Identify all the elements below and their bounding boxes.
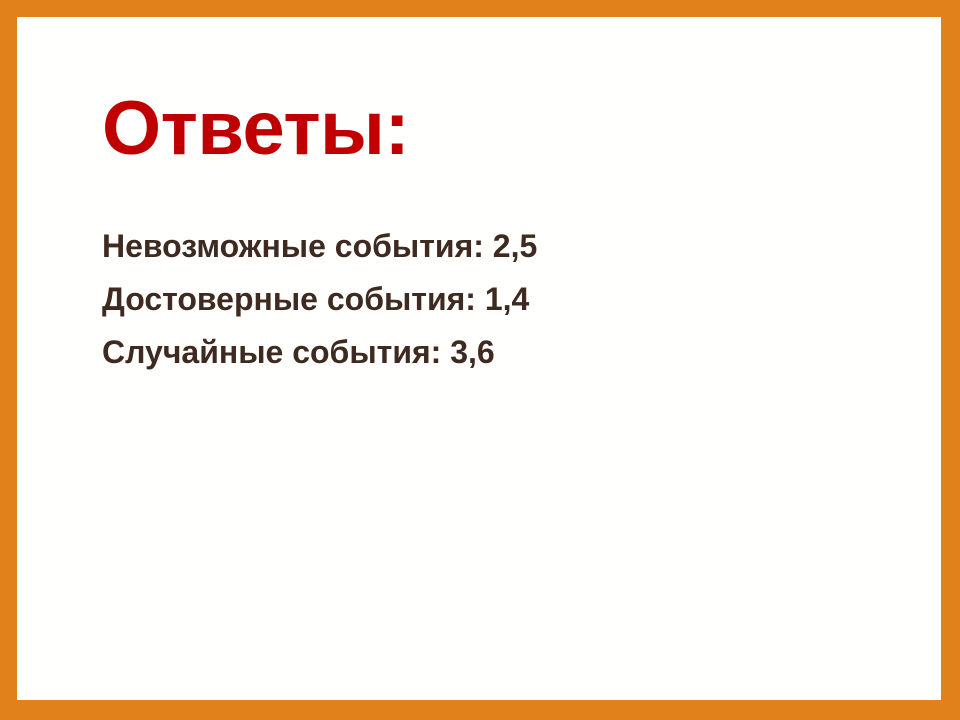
answers-list: Невозможные события: 2,5 Достоверные соб… — [102, 220, 862, 379]
list-item: Достоверные события: 1,4 — [102, 273, 862, 326]
list-item: Случайные события: 3,6 — [102, 326, 862, 379]
slide-frame: Ответы: Невозможные события: 2,5 Достове… — [0, 0, 960, 720]
slide-canvas: Ответы: Невозможные события: 2,5 Достове… — [17, 17, 941, 700]
page-title: Ответы: — [102, 91, 409, 167]
list-item: Невозможные события: 2,5 — [102, 220, 862, 273]
